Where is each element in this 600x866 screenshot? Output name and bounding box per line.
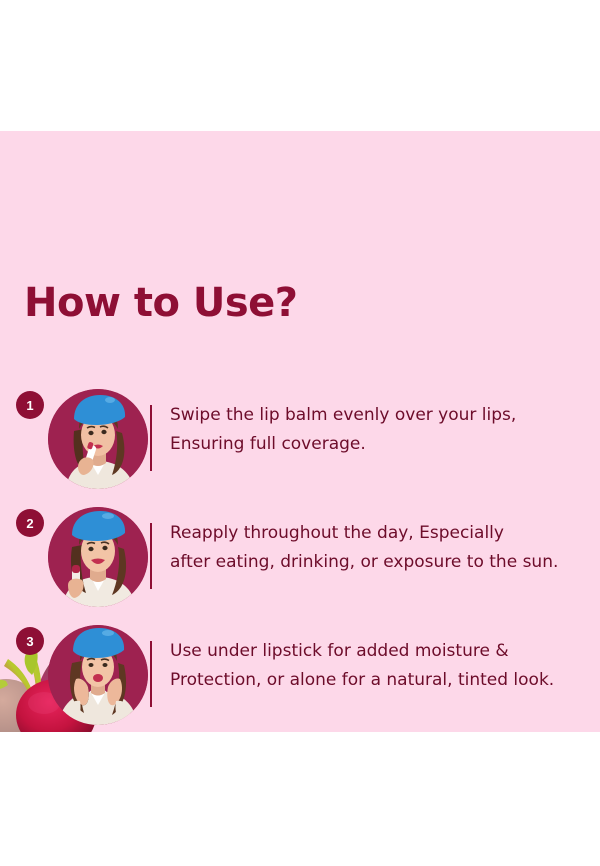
step-line-1: Swipe the lip balm evenly over your lips… [170, 405, 516, 425]
step-divider [150, 641, 152, 707]
list-item: 1 [0, 383, 600, 501]
step-line-2: Protection, or alone for a natural, tint… [170, 666, 585, 695]
steps-list: 1 [0, 383, 600, 732]
step-photo [48, 389, 148, 489]
step-number-badge: 2 [16, 509, 44, 537]
step-line-1: Use under lipstick for added moisture & [170, 641, 509, 661]
infographic-page: How to Use? 1 [0, 0, 600, 866]
step-line-1: Reapply throughout the day, Especially [170, 523, 504, 543]
step-number-badge: 1 [16, 391, 44, 419]
step-number-badge: 3 [16, 627, 44, 655]
list-item: 2 [0, 501, 600, 619]
step-photo [48, 625, 148, 725]
page-title: How to Use? [24, 283, 297, 323]
step-line-2: after eating, drinking, or exposure to t… [170, 548, 585, 577]
step-photo [48, 507, 148, 607]
step-divider [150, 405, 152, 471]
pink-content-panel: How to Use? 1 [0, 131, 600, 732]
step-description: Reapply throughout the day, Especially a… [170, 519, 585, 577]
list-item: 3 [0, 619, 600, 732]
step-description: Use under lipstick for added moisture & … [170, 637, 585, 695]
step-line-2: Ensuring full coverage. [170, 430, 585, 459]
step-description: Swipe the lip balm evenly over your lips… [170, 401, 585, 459]
step-divider [150, 523, 152, 589]
